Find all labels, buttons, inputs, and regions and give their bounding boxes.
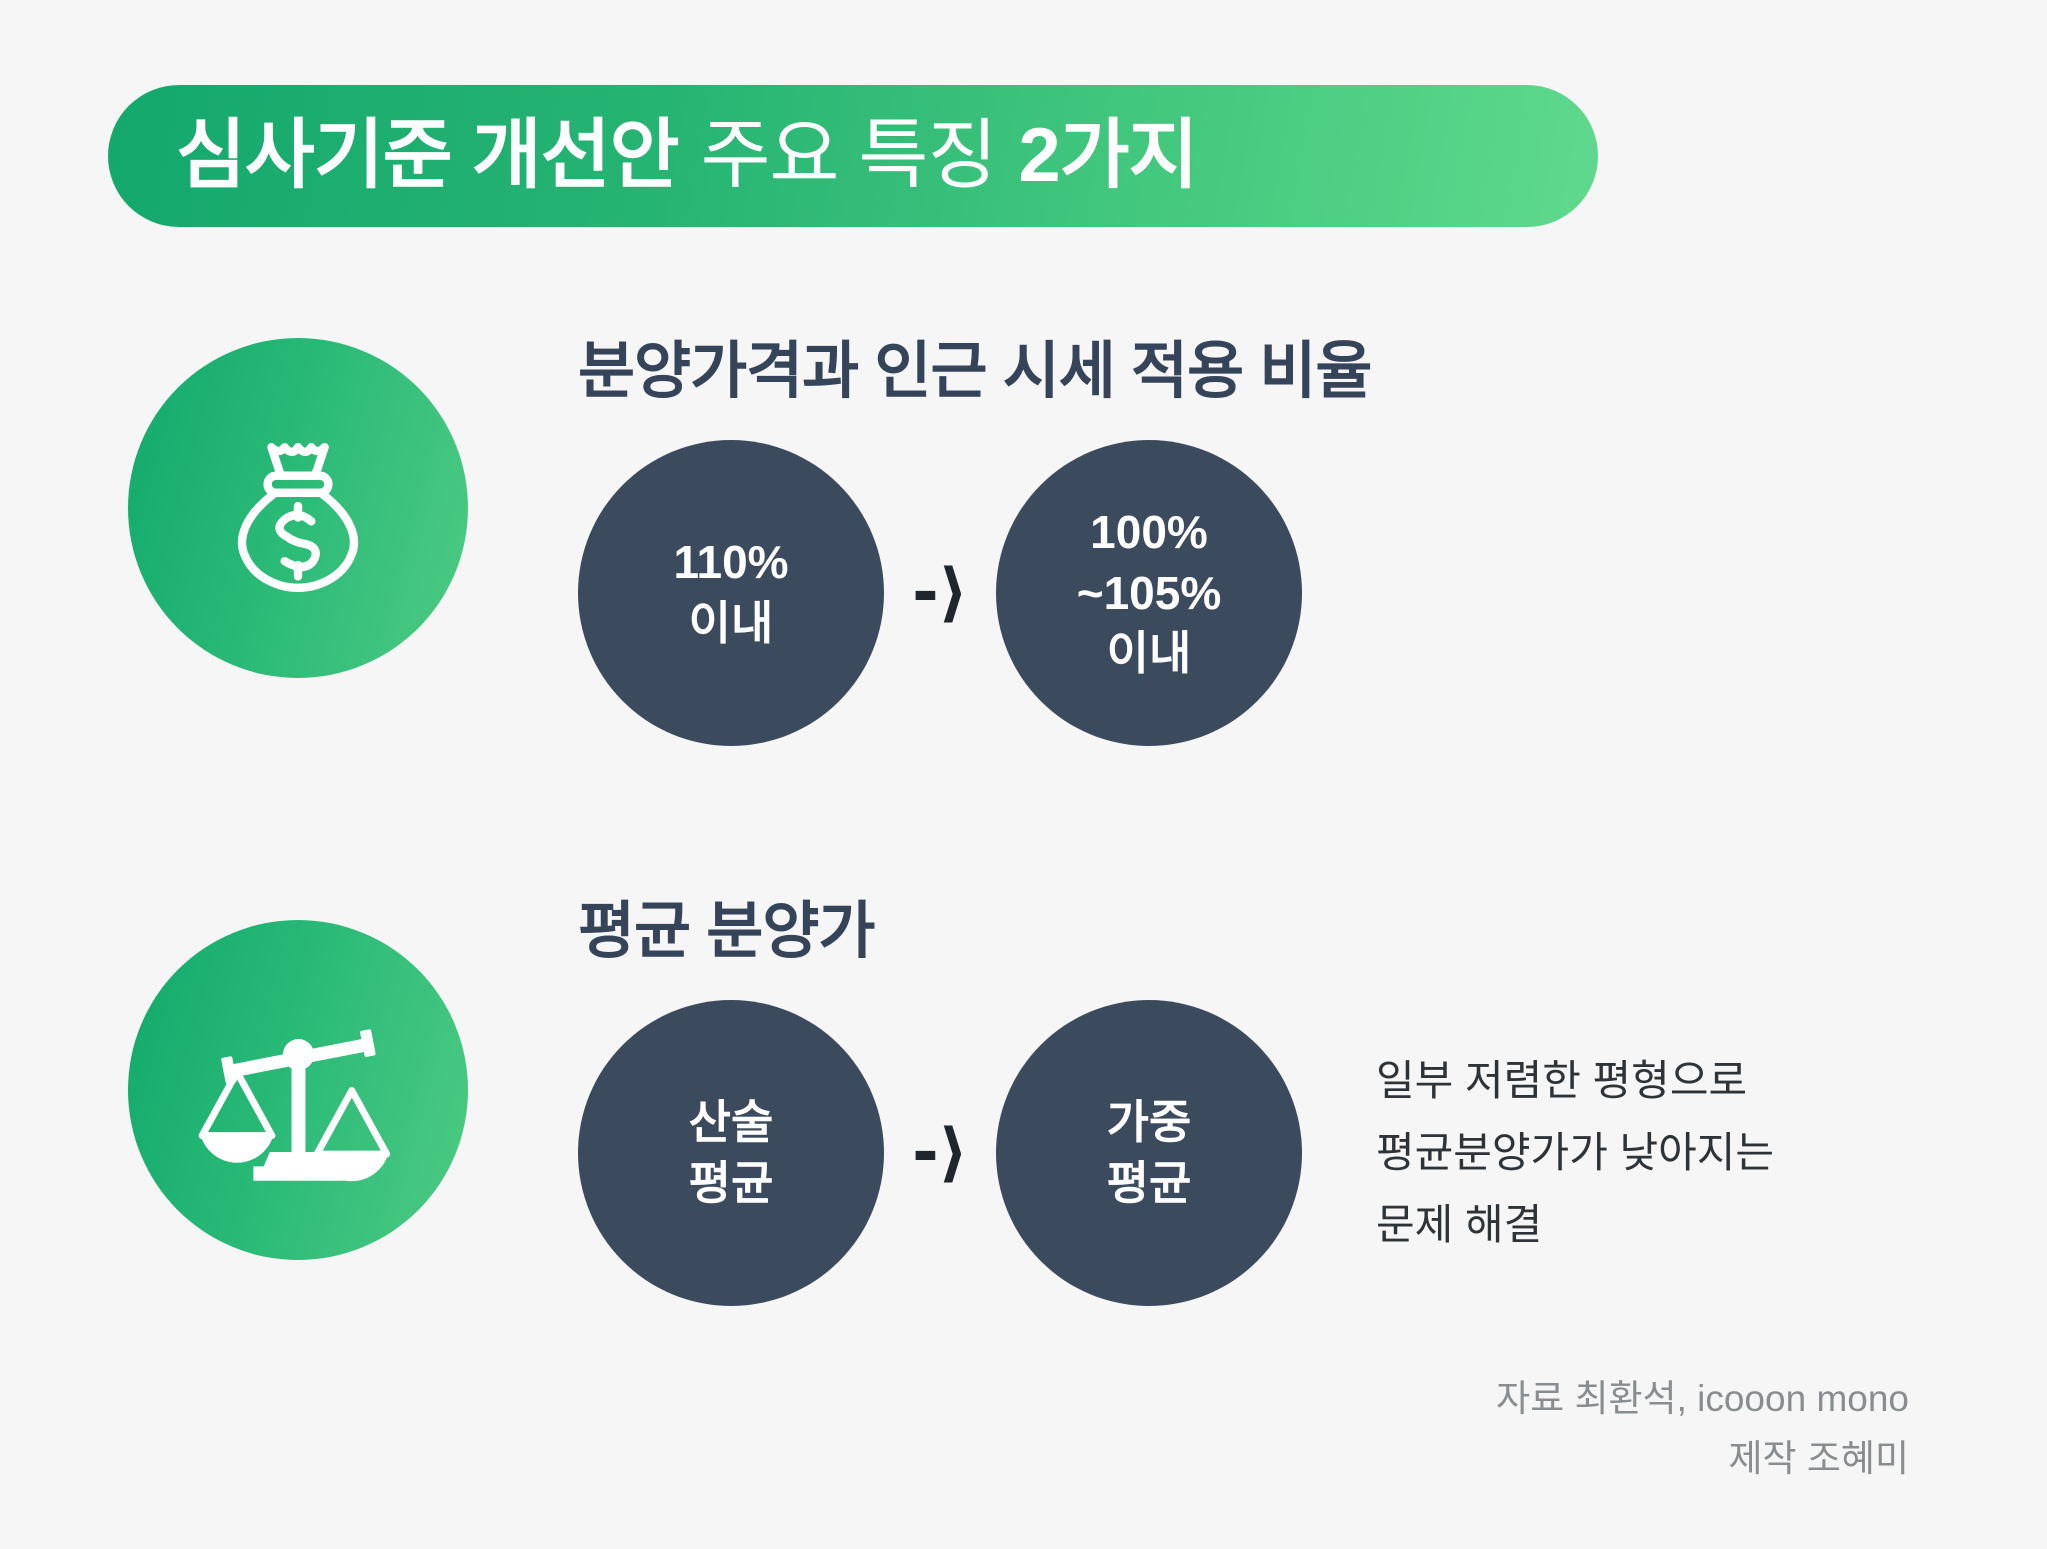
bubble-before-2: 산술 평균	[578, 1000, 884, 1306]
title-part-strong-2: 2가지	[1018, 118, 1197, 194]
section-2-bubbles: 산술 평균 -⟩ 가중 평균 일부 저렴한 평형으로 평균분양가가 낮아지는 문…	[578, 1000, 1774, 1306]
section-2-heading: 평균 분양가	[578, 880, 874, 970]
bubble-before-2-line-1: 산술	[689, 1092, 774, 1153]
bubble-after-1-line-3: 이내	[1107, 623, 1192, 684]
bubble-after-1: 100% ~105% 이내	[996, 440, 1302, 746]
balance-scale-icon	[196, 988, 401, 1193]
title-part-light: 주요 특징	[701, 118, 997, 194]
section-2-note-line-3: 문제 해결	[1376, 1189, 1774, 1261]
title-banner: 심사기준 개선안 주요 특징 2가지	[108, 85, 1598, 227]
bubble-after-2-line-1: 가중	[1107, 1092, 1192, 1153]
bubble-before-2-line-2: 평균	[689, 1153, 774, 1214]
money-bag-icon	[203, 413, 393, 603]
page-title: 심사기준 개선안 주요 특징 2가지	[176, 118, 1197, 194]
section-2-note-line-2: 평균분양가가 낮아지는	[1376, 1117, 1774, 1189]
section-1-bubbles: 110% 이내 -⟩ 100% ~105% 이내	[578, 440, 1302, 746]
bubble-after-1-line-2: ~105%	[1077, 563, 1222, 624]
infographic-canvas: 심사기준 개선안 주요 특징 2가지 분양가격과 인근 시세 적용 비율	[0, 0, 2047, 1549]
title-part-strong-1: 심사기준 개선안	[176, 118, 679, 194]
footer-credits: 자료 최환석, icooon mono 제작 조혜미	[1496, 1369, 1909, 1489]
footer-source: 자료 최환석, icooon mono	[1496, 1369, 1909, 1429]
section-1-heading: 분양가격과 인근 시세 적용 비율	[578, 320, 1371, 410]
footer-author: 제작 조혜미	[1496, 1429, 1909, 1489]
icon-badge-2	[128, 920, 468, 1260]
arrow-icon-2: -⟩	[884, 1121, 996, 1185]
bubble-after-2: 가중 평균	[996, 1000, 1302, 1306]
section-2-note-line-1: 일부 저렴한 평형으로	[1376, 1045, 1774, 1117]
bubble-before-1-line-2: 이내	[689, 593, 774, 654]
icon-badge-1	[128, 338, 468, 678]
bubble-after-2-line-2: 평균	[1107, 1153, 1192, 1214]
bubble-after-1-line-1: 100%	[1090, 502, 1208, 563]
arrow-icon-1: -⟩	[884, 561, 996, 625]
bubble-before-1: 110% 이내	[578, 440, 884, 746]
bubble-before-1-line-1: 110%	[673, 532, 788, 593]
section-2-note: 일부 저렴한 평형으로 평균분양가가 낮아지는 문제 해결	[1376, 1045, 1774, 1262]
